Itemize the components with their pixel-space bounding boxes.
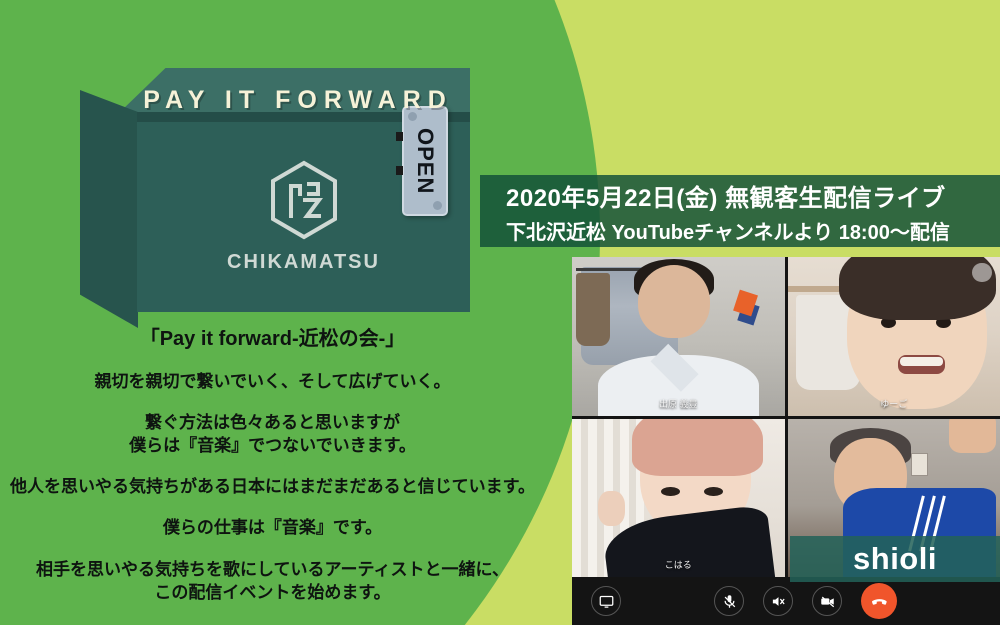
copy-paragraph-2-line-2: 僕らは『音楽』でつないでいきます。 — [129, 436, 416, 455]
video-feed-image — [788, 257, 1000, 416]
screen-share-icon[interactable] — [591, 586, 621, 616]
copy-paragraph-5-line-1: 相手を思いやる気持ちを歌にしているアーティストと一緒に、 — [36, 560, 509, 579]
event-channel-line: 下北沢近松 YouTubeチャンネルより 18:00〜配信 — [506, 216, 1000, 245]
copy-paragraph-1: 親切を親切で繋いでいく、そして広げていく。 — [0, 370, 545, 393]
video-grid: 出原 義豊 ゆーご — [572, 257, 1000, 577]
open-tag: OPEN — [402, 106, 448, 216]
event-info-banner: 2020年5月22日(金) 無観客生配信ライブ 下北沢近松 YouTubeチャン… — [480, 175, 1000, 247]
chikamatsu-brand-text: CHIKAMATSU — [137, 251, 470, 274]
copy-paragraph-2: 繋ぐ方法は色々あると思いますが 僕らは『音楽』でつないでいきます。 — [0, 411, 545, 457]
poster-stage: PAY IT FORWARD CHIKAMATSU OPEN 「Pay it f… — [0, 0, 1000, 625]
copy-paragraph-5-line-2: この配信イベントを始めます。 — [154, 583, 390, 602]
open-tag-label: OPEN — [412, 128, 438, 194]
gift-box-side — [80, 90, 138, 328]
video-tile-top-left[interactable]: 出原 義豊 — [572, 257, 785, 416]
copy-paragraph-2-line-1: 繋ぐ方法は色々あると思いますが — [145, 413, 400, 432]
copy-paragraph-5: 相手を思いやる気持ちを歌にしているアーティストと一緒に、 この配信イベントを始め… — [0, 558, 545, 604]
hexagon-chikamatsu-logo-icon — [267, 160, 341, 245]
speaker-muted-icon[interactable] — [763, 586, 793, 616]
video-tile-top-right[interactable]: ゆーご — [788, 257, 1000, 416]
pay-it-forward-headline: PAY IT FORWARD — [118, 86, 478, 115]
tag-notch-lower — [396, 166, 403, 175]
gift-box-graphic: PAY IT FORWARD CHIKAMATSU OPEN — [80, 68, 470, 328]
video-call-toolbar[interactable] — [572, 577, 1000, 625]
camera-off-icon[interactable] — [812, 586, 842, 616]
microphone-muted-icon[interactable] — [714, 586, 744, 616]
participant-name: ゆーご — [788, 397, 1000, 410]
featured-artist-label: shioli — [853, 541, 937, 577]
end-call-icon[interactable] — [861, 583, 897, 619]
copy-headline: 「Pay it forward-近松の会-」 — [0, 322, 545, 351]
participant-name: こはる — [572, 558, 785, 571]
video-call-panel[interactable]: 出原 義豊 ゆーご — [572, 257, 1000, 625]
copy-paragraph-3: 他人を思いやる気持ちがある日本にはまだまだあると信じています。 — [0, 475, 545, 498]
copy-paragraph-4: 僕らの仕事は『音楽』です。 — [0, 516, 545, 539]
featured-artist-banner: shioli — [790, 536, 1000, 582]
event-date-line: 2020年5月22日(金) 無観客生配信ライブ — [506, 178, 1000, 213]
event-description-copy: 「Pay it forward-近松の会-」 親切を親切で繋いでいく、そして広げ… — [0, 322, 545, 604]
video-tile-bottom-left[interactable]: こはる — [572, 419, 785, 578]
video-feed-image — [572, 419, 785, 578]
participant-name: 出原 義豊 — [572, 397, 785, 410]
tag-notch-upper — [396, 132, 403, 141]
video-feed-image — [572, 257, 785, 416]
